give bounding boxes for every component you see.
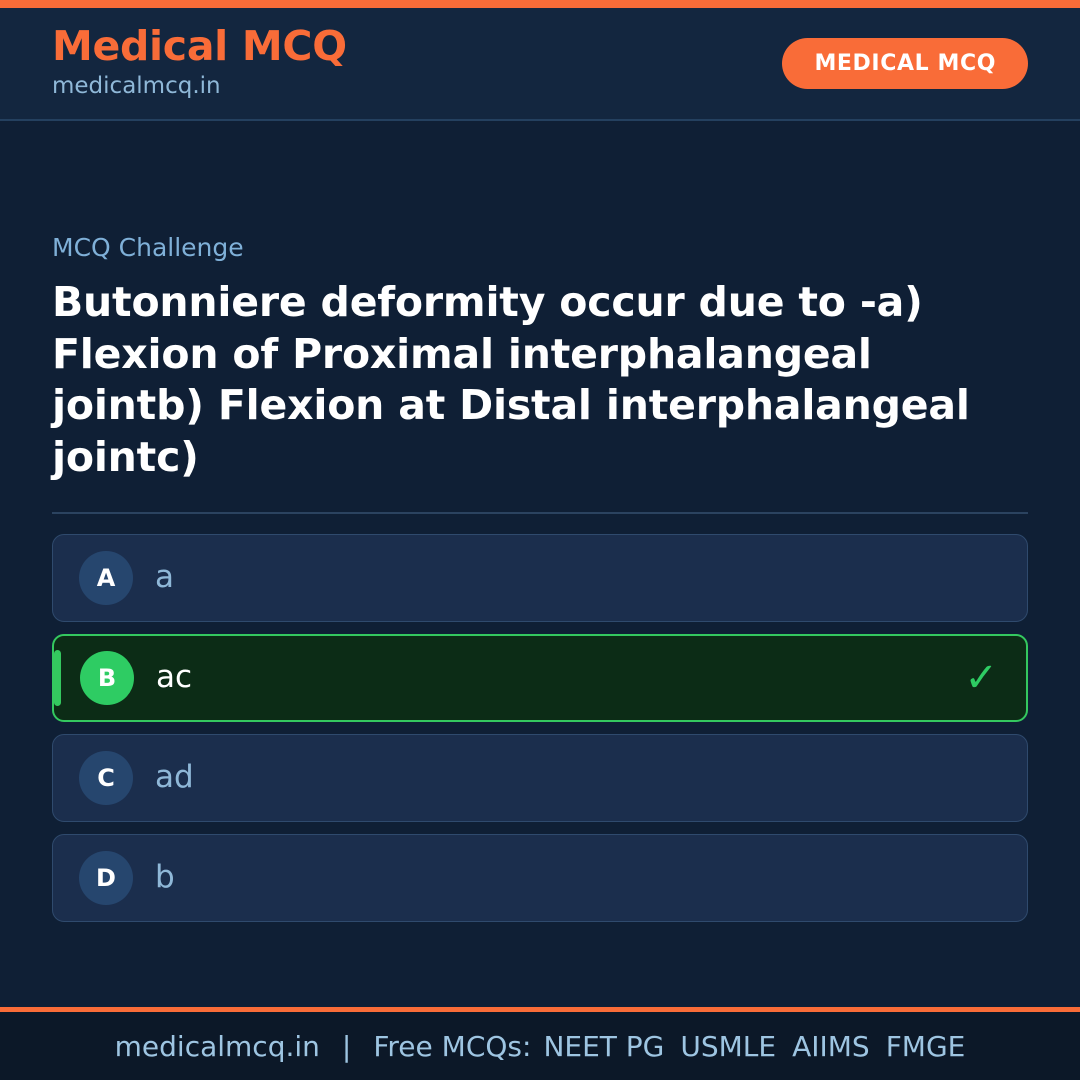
footer-separator: | [342,1030,351,1063]
option-label: a [155,559,949,596]
section-divider [52,512,1028,514]
option-letter-badge: D [79,851,133,905]
option-row-c[interactable]: C ad ✓ [52,734,1028,822]
footer-exam-usmle[interactable]: USMLE [680,1030,776,1063]
options-list: A a ✓ B ac ✓ C ad ✓ D b ✓ [52,534,1028,922]
brand-block: Medical MCQ medicalmcq.in [52,25,347,101]
brand-subtitle: medicalmcq.in [52,71,347,102]
option-row-a[interactable]: A a ✓ [52,534,1028,622]
footer-exam-fmge[interactable]: FMGE [886,1030,966,1063]
check-icon: ✓ [964,658,998,698]
page-header: Medical MCQ medicalmcq.in MEDICAL MCQ [0,8,1080,121]
option-letter-badge: B [80,651,134,705]
eyebrow-label: MCQ Challenge [52,233,1028,263]
footer-label: Free MCQs: [373,1030,531,1063]
main-content: MCQ Challenge Butonniere deformity occur… [0,121,1080,1007]
footer-exam-aiims[interactable]: AIIMS [792,1030,870,1063]
footer-content: medicalmcq.in | Free MCQs: NEET PG USMLE… [115,1030,966,1063]
option-label: ad [155,759,949,796]
option-row-b[interactable]: B ac ✓ [52,634,1028,722]
question-text: Butonniere deformity occur due to -a) Fl… [52,277,1028,484]
option-label: ac [156,659,948,696]
header-badge: MEDICAL MCQ [782,38,1028,89]
page-footer: medicalmcq.in | Free MCQs: NEET PG USMLE… [0,1007,1080,1080]
option-letter-badge: A [79,551,133,605]
option-label: b [155,859,949,896]
option-letter-badge: C [79,751,133,805]
correct-accent-bar [54,650,61,706]
brand-title: Medical MCQ [52,25,347,68]
footer-site-link[interactable]: medicalmcq.in [115,1030,320,1063]
option-row-d[interactable]: D b ✓ [52,834,1028,922]
top-accent-bar [0,0,1080,8]
footer-exam-neet-pg[interactable]: NEET PG [543,1030,664,1063]
